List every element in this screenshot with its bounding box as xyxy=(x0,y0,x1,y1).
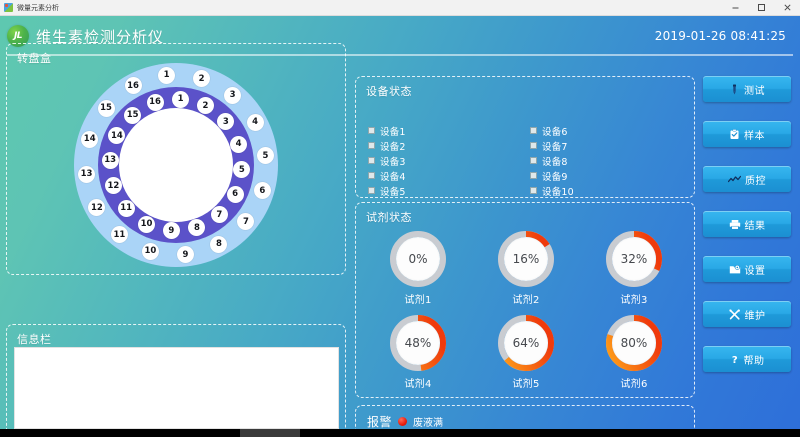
device-status-item[interactable]: 设备6 xyxy=(530,123,684,138)
reagent-gauge-dial: 16% xyxy=(497,230,555,288)
turntable-wheel[interactable]: 12345678910111213141516 1234567891011121… xyxy=(74,63,278,267)
turntable-inner-slot-11[interactable]: 11 xyxy=(118,200,135,217)
reagent-gauge-dial: 32% xyxy=(605,230,663,288)
sidebar-toolbar: 测试样本质控结果设置维护?帮助 xyxy=(703,76,795,426)
turntable-outer-slot-9[interactable]: 9 xyxy=(177,246,194,263)
pipette-icon xyxy=(729,84,740,95)
sidebar-button-label: 样本 xyxy=(744,127,765,142)
reagent-gauge-label: 试剂5 xyxy=(512,375,539,390)
turntable-outer-slot-8[interactable]: 8 xyxy=(210,236,227,253)
reagent-gauge[interactable]: 16%试剂2 xyxy=(497,230,555,314)
device-status-item[interactable]: 设备10 xyxy=(530,183,684,198)
sidebar-button-pipette[interactable]: 测试 xyxy=(703,76,791,102)
reagent-gauge-dial: 0% xyxy=(389,230,447,288)
device-status-item[interactable]: 设备1 xyxy=(368,123,522,138)
device-status-item[interactable]: 设备8 xyxy=(530,153,684,168)
turntable-inner-slot-4[interactable]: 4 xyxy=(230,136,247,153)
svg-text:?: ? xyxy=(731,355,737,365)
device-status-label: 设备10 xyxy=(542,184,574,198)
alarm-title: 报警 xyxy=(367,413,392,429)
reagent-gauge-value: 80% xyxy=(612,321,656,365)
reagent-gauge[interactable]: 48%试剂4 xyxy=(389,314,447,398)
printer-icon xyxy=(729,219,741,230)
device-status-panel: 设备状态 设备1设备6设备2设备7设备3设备8设备4设备9设备5设备10 xyxy=(355,76,695,198)
device-status-label: 设备5 xyxy=(380,184,406,198)
alarm-message: 废液满 xyxy=(413,414,443,429)
turntable-outer-slot-16[interactable]: 16 xyxy=(125,77,142,94)
device-led-icon xyxy=(530,157,537,164)
device-status-item[interactable]: 设备2 xyxy=(368,138,522,153)
reagent-status-panel-title: 试剂状态 xyxy=(366,209,412,225)
device-status-label: 设备7 xyxy=(542,139,568,153)
device-status-label: 设备4 xyxy=(380,169,406,183)
turntable-inner-slot-7[interactable]: 7 xyxy=(211,206,228,223)
alarm-row: 报警 废液满 xyxy=(367,406,443,429)
device-status-item[interactable]: 设备4 xyxy=(368,168,522,183)
turntable-outer-slot-3[interactable]: 3 xyxy=(224,87,241,104)
reagent-gauge-label: 试剂4 xyxy=(404,375,431,390)
reagent-gauge-label: 试剂1 xyxy=(404,291,431,306)
turntable-inner-slot-1[interactable]: 1 xyxy=(172,91,189,108)
device-led-icon xyxy=(530,127,537,134)
reagent-gauge-value: 32% xyxy=(612,237,656,281)
minimize-icon[interactable] xyxy=(722,0,748,16)
chart-line-icon xyxy=(728,174,741,185)
reagent-gauge-label: 试剂3 xyxy=(620,291,647,306)
device-status-label: 设备9 xyxy=(542,169,568,183)
sidebar-button-chart-line[interactable]: 质控 xyxy=(703,166,791,192)
reagent-gauge-dial: 48% xyxy=(389,314,447,372)
device-status-item[interactable]: 设备5 xyxy=(368,183,522,198)
device-status-panel-title: 设备状态 xyxy=(366,83,412,99)
device-status-item[interactable]: 设备9 xyxy=(530,168,684,183)
info-panel-title: 信息栏 xyxy=(17,331,52,347)
datetime-display: 2019-01-26 08:41:25 xyxy=(655,29,786,43)
sidebar-button-label: 维护 xyxy=(745,307,766,322)
application-window: 微量元素分析 JL 维生素检测分析仪 2019-01-26 08:41:25 转… xyxy=(0,0,800,437)
sidebar-button-clipboard-check[interactable]: 样本 xyxy=(703,121,791,147)
window-controls xyxy=(722,0,800,16)
reagent-gauge-value: 16% xyxy=(504,237,548,281)
turntable-outer-slot-10[interactable]: 10 xyxy=(142,243,159,260)
turntable-inner-slot-13[interactable]: 13 xyxy=(102,152,119,169)
device-led-icon xyxy=(368,127,375,134)
app-icon xyxy=(4,3,13,12)
sidebar-button-printer[interactable]: 结果 xyxy=(703,211,791,237)
reagent-gauge-dial: 64% xyxy=(497,314,555,372)
device-led-icon xyxy=(530,187,537,194)
device-status-label: 设备1 xyxy=(380,124,406,138)
device-status-item[interactable]: 设备3 xyxy=(368,153,522,168)
reagent-gauge[interactable]: 0%试剂1 xyxy=(389,230,447,314)
info-panel: 信息栏 xyxy=(6,324,346,429)
turntable-outer-slot-1[interactable]: 1 xyxy=(158,67,175,84)
device-status-item[interactable]: 设备7 xyxy=(530,138,684,153)
clipboard-check-icon xyxy=(729,129,740,140)
turntable-outer-slot-14[interactable]: 14 xyxy=(81,131,98,148)
device-led-icon xyxy=(530,142,537,149)
turntable-inner-slot-6[interactable]: 6 xyxy=(227,186,244,203)
info-log-area[interactable] xyxy=(14,347,339,429)
sidebar-button-label: 帮助 xyxy=(744,352,765,367)
device-status-label: 设备2 xyxy=(380,139,406,153)
sidebar-button-folder-gear[interactable]: 设置 xyxy=(703,256,791,282)
reagent-gauge-value: 64% xyxy=(504,321,548,365)
sidebar-button-label: 结果 xyxy=(745,217,766,232)
close-icon[interactable] xyxy=(774,0,800,16)
taskbar-window-button[interactable] xyxy=(240,429,300,437)
reagent-gauge-value: 0% xyxy=(396,237,440,281)
device-led-icon xyxy=(368,157,375,164)
turntable-outer-slot-4[interactable]: 4 xyxy=(247,114,264,131)
reagent-gauge[interactable]: 32%试剂3 xyxy=(605,230,663,314)
turntable-panel-title: 转盘盒 xyxy=(17,50,52,66)
reagent-gauge-label: 试剂2 xyxy=(512,291,539,306)
turntable-inner-slot-10[interactable]: 10 xyxy=(138,216,155,233)
sidebar-button-label: 设置 xyxy=(745,262,766,277)
turntable-outer-slot-5[interactable]: 5 xyxy=(257,147,274,164)
turntable-inner-slot-16[interactable]: 16 xyxy=(147,94,164,111)
wrench-screwdriver-icon xyxy=(729,309,741,320)
turntable-panel: 转盘盒 12345678910111213141516 123456789101… xyxy=(6,43,346,275)
reagent-gauge[interactable]: 64%试剂5 xyxy=(497,314,555,398)
device-led-icon xyxy=(368,172,375,179)
device-status-label: 设备8 xyxy=(542,154,568,168)
device-status-label: 设备6 xyxy=(542,124,568,138)
window-title: 微量元素分析 xyxy=(17,0,59,16)
os-title-bar: 微量元素分析 xyxy=(0,0,800,16)
folder-gear-icon xyxy=(729,264,741,275)
reagent-gauge[interactable]: 80%试剂6 xyxy=(605,314,663,398)
turntable-outer-slot-13[interactable]: 13 xyxy=(78,166,95,183)
maximize-icon[interactable] xyxy=(748,0,774,16)
device-status-label: 设备3 xyxy=(380,154,406,168)
sidebar-button-question-mark[interactable]: ?帮助 xyxy=(703,346,791,372)
alarm-indicator-icon xyxy=(398,417,407,426)
turntable-outer-slot-15[interactable]: 15 xyxy=(98,100,115,117)
sidebar-button-label: 质控 xyxy=(745,172,766,187)
os-taskbar xyxy=(0,429,800,437)
app-body: JL 维生素检测分析仪 2019-01-26 08:41:25 转盘盒 1234… xyxy=(0,16,800,429)
device-status-list: 设备1设备6设备2设备7设备3设备8设备4设备9设备5设备10 xyxy=(368,123,684,198)
alarm-panel: 报警 废液满 xyxy=(355,405,695,429)
reagent-gauge-dial: 80% xyxy=(605,314,663,372)
reagent-gauge-list: 0%试剂116%试剂232%试剂348%试剂464%试剂580%试剂6 xyxy=(364,230,688,398)
device-led-icon xyxy=(368,187,375,194)
turntable-outer-slot-6[interactable]: 6 xyxy=(254,182,271,199)
device-led-icon xyxy=(368,142,375,149)
device-led-icon xyxy=(530,172,537,179)
sidebar-button-label: 测试 xyxy=(744,82,765,97)
reagent-gauge-label: 试剂6 xyxy=(620,375,647,390)
reagent-status-panel: 试剂状态 0%试剂116%试剂232%试剂348%试剂464%试剂580%试剂6 xyxy=(355,202,695,398)
turntable-center-hole xyxy=(119,108,233,222)
sidebar-button-wrench-screwdriver[interactable]: 维护 xyxy=(703,301,791,327)
turntable-inner-slot-15[interactable]: 15 xyxy=(124,107,141,124)
reagent-gauge-value: 48% xyxy=(396,321,440,365)
question-mark-icon: ? xyxy=(730,354,740,365)
